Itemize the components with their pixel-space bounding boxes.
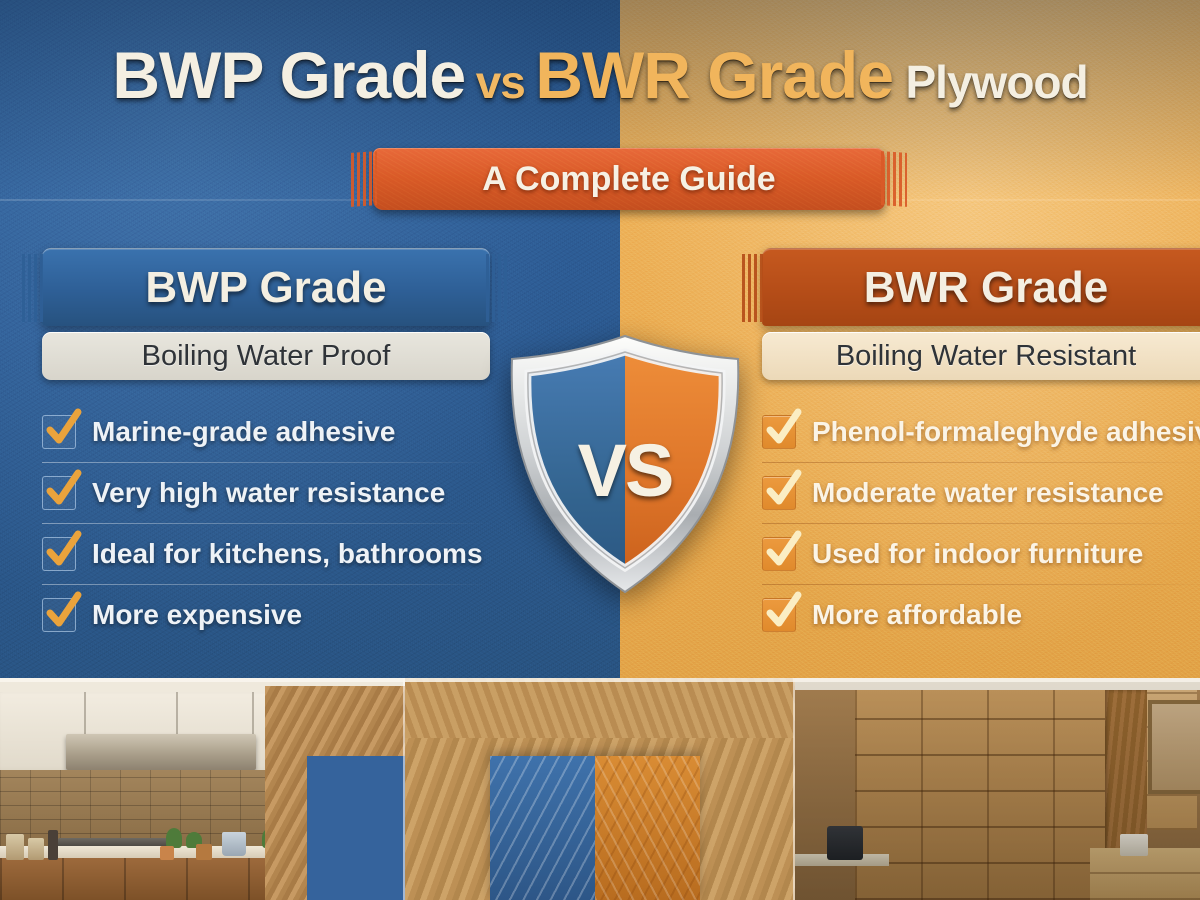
list-item-label: Phenol-formaleghyde adhesive <box>812 416 1200 448</box>
list-item: Moderate water resistance <box>762 463 1200 523</box>
infographic-poster: BWP Grade vs BWR Grade Plywood A Complet… <box>0 0 1200 900</box>
list-item: Used for indoor furniture <box>762 524 1200 584</box>
check-icon <box>762 415 796 449</box>
list-item-label: More expensive <box>92 599 302 631</box>
check-icon <box>42 598 76 632</box>
list-item-label: Ideal for kitchens, bathrooms <box>92 538 483 570</box>
check-icon <box>42 537 76 571</box>
bwp-feature-list: Marine-grade adhesive Very high water re… <box>42 402 490 645</box>
photo-strip <box>0 678 1200 900</box>
bwp-subheading-pill: Boiling Water Proof <box>42 332 490 380</box>
photo-strip-top-edge <box>0 678 1200 682</box>
title-part-plywood: Plywood <box>898 56 1088 108</box>
list-item-label: More affordable <box>812 599 1022 631</box>
title-part-bwr: BWR Grade <box>535 38 893 112</box>
list-item: Very high water resistance <box>42 463 490 523</box>
title-part-bwp: BWP Grade <box>112 38 465 112</box>
title-vs-word: vs <box>470 56 531 108</box>
bwr-panel: BWR Grade Boiling Water Resistant Phenol… <box>740 248 1200 645</box>
bwr-panel-header: BWR Grade <box>762 248 1200 326</box>
bwp-panel-header: BWP Grade <box>42 248 490 326</box>
indoor-furniture-photo <box>795 678 1200 900</box>
bwp-subheading: Boiling Water Proof <box>142 340 391 373</box>
list-item: More affordable <box>762 585 1200 645</box>
bwp-panel: BWP Grade Boiling Water Proof Marine-gra… <box>42 248 490 645</box>
page-title: BWP Grade vs BWR Grade Plywood <box>0 42 1200 108</box>
vs-shield-badge: VS <box>500 330 750 605</box>
bwr-feature-list: Phenol-formaleghyde adhesive Moderate wa… <box>762 402 1200 645</box>
check-icon <box>42 476 76 510</box>
bwr-subheading-pill: Boiling Water Resistant <box>762 332 1200 380</box>
list-item: More expensive <box>42 585 490 645</box>
list-item: Phenol-formaleghyde adhesive <box>762 402 1200 462</box>
list-item-label: Moderate water resistance <box>812 477 1164 509</box>
check-icon <box>762 537 796 571</box>
subtitle-text: A Complete Guide <box>373 148 885 210</box>
plywood-block-photo <box>405 678 795 900</box>
check-icon <box>42 415 76 449</box>
bwr-subheading: Boiling Water Resistant <box>836 340 1136 373</box>
bwr-heading: BWR Grade <box>864 263 1108 313</box>
vs-label: VS <box>500 330 750 605</box>
subtitle-banner: A Complete Guide <box>373 148 885 210</box>
list-item-label: Used for indoor furniture <box>812 538 1143 570</box>
list-item: Marine-grade adhesive <box>42 402 490 462</box>
check-icon <box>762 476 796 510</box>
list-item: Ideal for kitchens, bathrooms <box>42 524 490 584</box>
kitchen-photo <box>0 678 405 900</box>
bwp-heading: BWP Grade <box>145 263 386 313</box>
check-icon <box>762 598 796 632</box>
list-item-label: Very high water resistance <box>92 477 445 509</box>
list-item-label: Marine-grade adhesive <box>92 416 395 448</box>
